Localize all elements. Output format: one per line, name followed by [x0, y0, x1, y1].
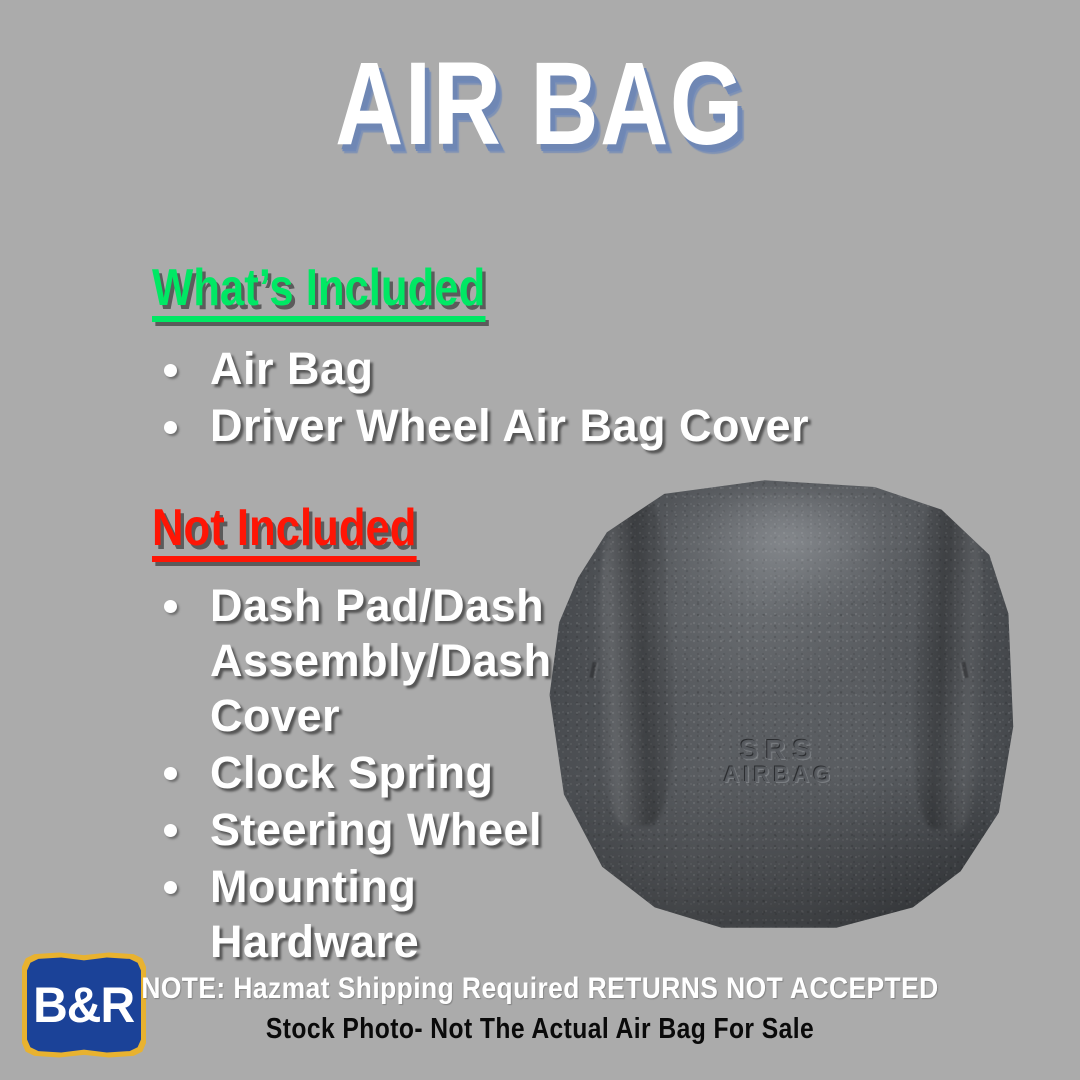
not-included-heading: Not Included [152, 502, 416, 562]
hazmat-note: NOTE: Hazmat Shipping Required RETURNS N… [65, 972, 1015, 1006]
included-item-label: Driver Wheel Air Bag Cover [210, 400, 809, 451]
included-list: Air Bag Driver Wheel Air Bag Cover [150, 340, 809, 454]
not-included-heading-text: Not Included [152, 499, 416, 557]
included-heading-text: What’s Included [152, 259, 485, 317]
airbag-highlight [664, 492, 913, 610]
airbag-body-shape: SRS AIRBAG [540, 478, 1018, 930]
list-item: Mounting Hardware [150, 859, 570, 969]
listing-graphic-canvas: AIR BAG What’s Included Air Bag Driver W… [0, 0, 1080, 1080]
list-item: Driver Wheel Air Bag Cover [150, 397, 809, 454]
airbag-cover-photo: SRS AIRBAG [540, 478, 1018, 930]
stock-photo-note: Stock Photo- Not The Actual Air Bag For … [81, 1013, 999, 1046]
airbag-bottom-shading [569, 776, 990, 930]
list-item: Dash Pad/Dash Assembly/Dash Cover [150, 578, 570, 743]
not-included-item-label: Clock Spring [210, 747, 494, 798]
list-item: Air Bag [150, 340, 809, 397]
included-item-label: Air Bag [210, 343, 374, 394]
included-heading: What’s Included [152, 262, 485, 322]
not-included-item-label: Dash Pad/Dash Assembly/Dash Cover [210, 580, 552, 741]
not-included-list: Dash Pad/Dash Assembly/Dash Cover Clock … [150, 578, 570, 971]
not-included-item-label: Steering Wheel [210, 804, 542, 855]
list-item: Steering Wheel [150, 802, 570, 857]
page-title: AIR BAG [108, 44, 972, 164]
list-item: Clock Spring [150, 745, 570, 800]
not-included-item-label: Mounting Hardware [210, 861, 419, 967]
